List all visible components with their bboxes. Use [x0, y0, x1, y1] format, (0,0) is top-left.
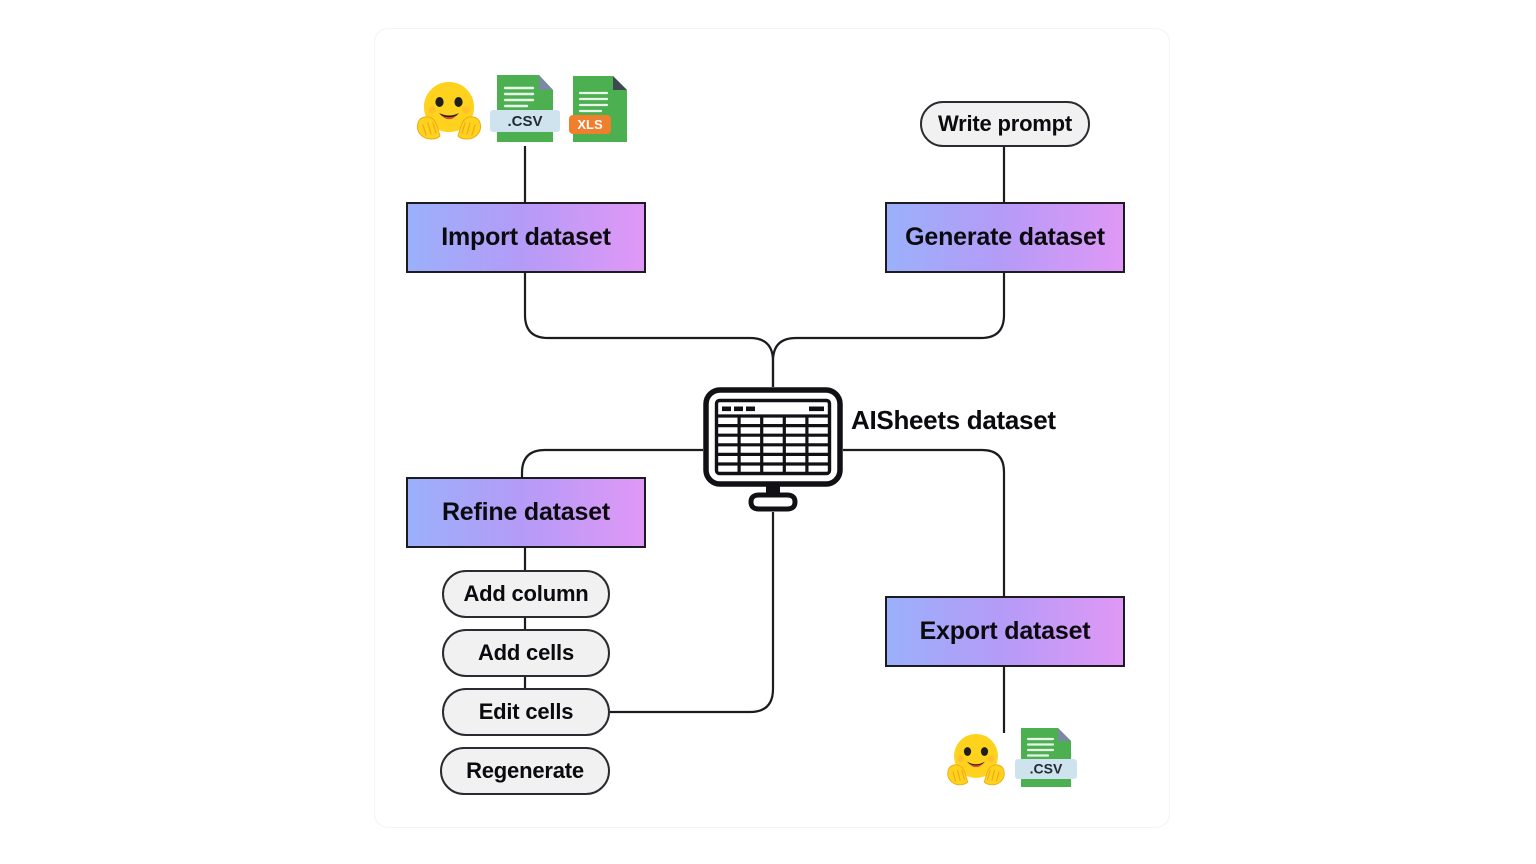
xls-file-icon: XLS [567, 73, 633, 145]
csv-file-icon: .CSV [1014, 725, 1078, 791]
import-dataset-box[interactable]: Import dataset [406, 202, 646, 273]
generate-dataset-box[interactable]: Generate dataset [885, 202, 1125, 273]
export-dataset-box[interactable]: Export dataset [885, 596, 1125, 667]
add-cells-label: Add cells [478, 640, 574, 666]
regenerate-label: Regenerate [466, 758, 584, 784]
regenerate-pill[interactable]: Regenerate [440, 747, 610, 795]
edit-cells-pill[interactable]: Edit cells [442, 688, 610, 736]
refine-dataset-box[interactable]: Refine dataset [406, 477, 646, 548]
add-column-pill[interactable]: Add column [442, 570, 610, 618]
write-prompt-pill[interactable]: Write prompt [920, 101, 1090, 147]
hugging-face-icon [413, 77, 485, 143]
write-prompt-label: Write prompt [938, 111, 1072, 137]
generate-dataset-label: Generate dataset [905, 223, 1105, 252]
xls-badge-text: XLS [577, 117, 603, 132]
edit-cells-label: Edit cells [479, 699, 574, 725]
import-dataset-label: Import dataset [441, 223, 610, 252]
ai-sheets-dataset-label: AISheets dataset [851, 405, 1056, 436]
csv-badge-text: .CSV [507, 113, 542, 130]
csv-file-icon: .CSV [489, 72, 561, 146]
hugging-face-icon [944, 729, 1008, 789]
add-cells-pill[interactable]: Add cells [442, 629, 610, 677]
refine-dataset-label: Refine dataset [442, 498, 610, 527]
add-column-label: Add column [463, 581, 588, 607]
export-dataset-label: Export dataset [920, 617, 1091, 646]
csv-badge-text: .CSV [1030, 761, 1063, 777]
monitor-spreadsheet-icon [703, 387, 843, 512]
diagram-canvas: Import dataset Generate dataset Refine d… [0, 0, 1536, 864]
